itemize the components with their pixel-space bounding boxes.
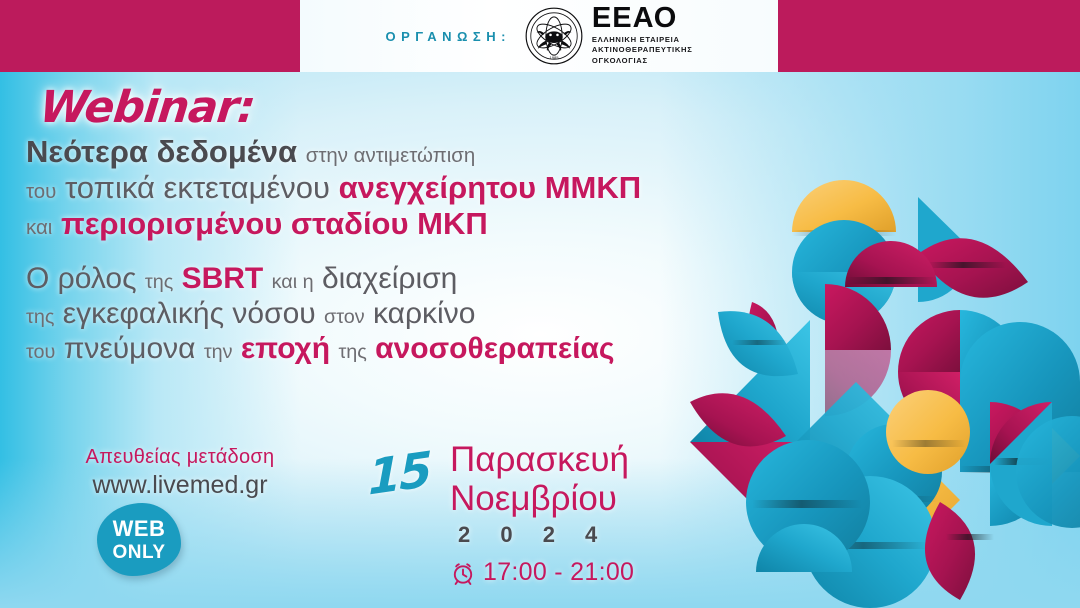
title-line-2-accent: ανεγχείρητου ΜΜΚΠ — [339, 170, 642, 205]
title-line-1: Νεότερα δεδομένα στην αντιμετώπιση — [26, 136, 726, 168]
title-line-5-b: καρκίνο — [373, 297, 475, 330]
title-line-5-small-2: στον — [324, 306, 365, 328]
logo-subtitle-line-3: ΟΓΚΟΛΟΓΙΑΣ — [592, 56, 693, 67]
title-line-6-small-2: την — [204, 341, 233, 363]
title-line-2: του τοπικά εκτεταμένου ανεγχείρητου ΜΜΚΠ — [26, 172, 726, 204]
event-weekday-month: Παρασκευή Νοεμβρίου — [450, 440, 629, 518]
title-line-4-small-1: της — [145, 271, 173, 293]
logo-subtitle-line-2: ΑΚΤΙΝΟΘΕΡΑΠΕΥΤΙΚΗΣ — [592, 45, 693, 56]
event-month: Νοεμβρίου — [450, 479, 629, 518]
webinar-poster: ΟΡΓΑΝΩΣΗ: 1985 — [0, 0, 1080, 608]
title-line-2-mid: τοπικά εκτεταμένου — [65, 170, 330, 205]
top-bar-right — [778, 0, 1080, 72]
web-only-line-1: WEB — [113, 518, 166, 540]
title-line-4-a: Ο ρόλος — [26, 262, 137, 295]
title-line-6: του πνεύμονα την εποχή της ανοσοθεραπεία… — [26, 333, 726, 364]
title-line-6-a: πνεύμονα — [64, 332, 196, 365]
top-bar-left — [0, 0, 300, 72]
title-line-4-small-2: και η — [272, 271, 314, 293]
webinar-kicker: Webinar: — [38, 86, 257, 130]
eeao-logo: 1985 ΕΕΑΟ ΕΛΛΗΝΙΚΗ ΕΤΑΙΡΕΙΑ ΑΚΤΙΝΟΘΕΡΑΠΕ… — [525, 5, 693, 67]
headline-block: Webinar: Νεότερα δεδομένα στην αντιμετώπ… — [26, 86, 726, 364]
title-line-1-bold: Νεότερα δεδομένα — [26, 134, 297, 169]
title-line-4-accent: SBRT — [182, 262, 264, 295]
title-line-5-a: εγκεφαλικής νόσου — [63, 297, 316, 330]
title-line-6-accent-2: ανοσοθεραπείας — [375, 332, 614, 365]
title-line-6-small-3: της — [338, 341, 366, 363]
event-time-row: 17:00 - 21:00 — [450, 558, 634, 587]
title-line-6-small-1: του — [26, 341, 55, 363]
title-line-6-accent-1: εποχή — [241, 332, 330, 365]
title-line-3-accent: περιορισμένου σταδίου ΜΚΠ — [61, 206, 488, 241]
event-time: 17:00 - 21:00 — [483, 558, 634, 587]
event-weekday: Παρασκευή — [450, 440, 629, 479]
logo-subtitle-line-1: ΕΛΛΗΝΙΚΗ ΕΤΑΙΡΕΙΑ — [592, 35, 693, 46]
broadcast-url[interactable]: www.livemed.gr — [45, 471, 315, 500]
alarm-clock-icon — [450, 560, 476, 586]
title-line-5: της εγκεφαλικής νόσου στον καρκίνο — [26, 298, 726, 329]
title-line-1-small: στην αντιμετώπιση — [306, 144, 476, 167]
broadcast-block: Απευθείας μετάδοση www.livemed.gr — [45, 446, 315, 500]
web-only-line-2: ONLY — [112, 543, 165, 562]
event-year: 2 0 2 4 — [458, 522, 609, 548]
organizer-header: ΟΡΓΑΝΩΣΗ: 1985 — [300, 0, 778, 72]
title-line-3-conj: και — [26, 216, 52, 239]
logo-acronym: ΕΕΑΟ — [592, 5, 693, 33]
title-line-2-article: του — [26, 180, 56, 203]
live-broadcast-label: Απευθείας μετάδοση — [45, 446, 315, 469]
title-line-4: Ο ρόλος της SBRT και η διαχείριση — [26, 263, 726, 294]
title-line-5-small-1: της — [26, 306, 54, 328]
crab-atom-emblem: 1985 — [525, 7, 583, 65]
web-only-badge: WEB ONLY — [97, 503, 181, 576]
organizer-label: ΟΡΓΑΝΩΣΗ: — [386, 29, 511, 44]
emblem-year: 1985 — [549, 55, 559, 60]
title-line-4-b: διαχείριση — [322, 262, 457, 295]
event-day-number: 15 — [368, 441, 430, 506]
title-line-3: και περιορισμένου σταδίου ΜΚΠ — [26, 208, 726, 240]
